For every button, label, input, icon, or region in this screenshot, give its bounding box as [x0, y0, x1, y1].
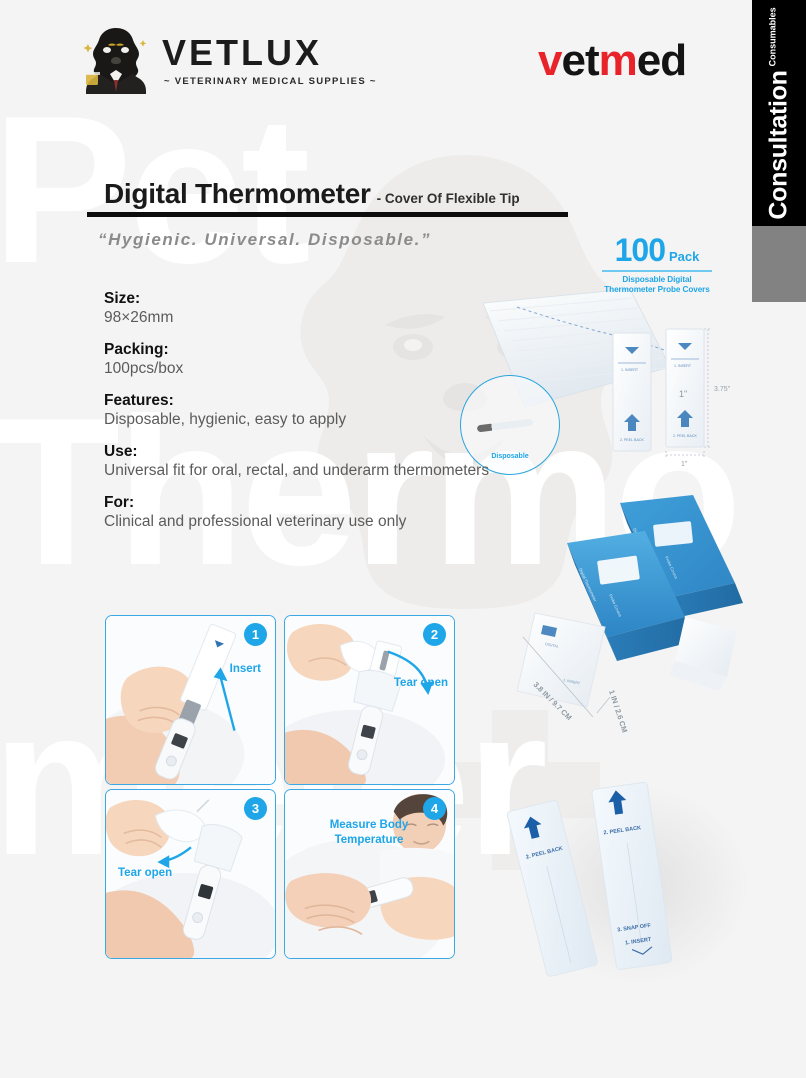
sleeve-dim-height: 3.75" [714, 386, 731, 393]
vetmed-et: et [561, 36, 598, 85]
usage-step-4: 4 Measure Body Temperature [284, 789, 455, 959]
spec-item-packing: Packing: 100pcs/box [104, 341, 584, 378]
svg-text:2. PEEL BACK: 2. PEEL BACK [620, 438, 644, 442]
pack-badge-number: 100 [615, 232, 665, 269]
sleeve-dim-width: 1" [681, 461, 688, 468]
spec-value: 100pcs/box [104, 360, 584, 378]
usage-step-2: 2 Tear open [284, 615, 455, 785]
spec-label: Size: [104, 290, 584, 308]
step-number-badge: 3 [244, 797, 267, 820]
step-number-badge: 1 [244, 623, 267, 646]
vetlux-logo: VETLUX ~ VETERINARY MEDICAL SUPPLIES ~ [80, 24, 370, 94]
svg-text:1. INSERT: 1. INSERT [621, 368, 639, 372]
svg-text:1. INSERT: 1. INSERT [674, 364, 692, 368]
step-caption: Tear open [118, 866, 172, 881]
step-caption: Measure Body Temperature [309, 818, 429, 848]
usage-step-1: 1 Insert [105, 615, 276, 785]
pack-badge-unit: Pack [669, 249, 699, 264]
sidebar-sub-label: Consumables [768, 7, 778, 66]
spec-item-use: Use: Universal fit for oral, rectal, and… [104, 443, 584, 480]
sleeve-dim-inner: 1" [679, 389, 687, 399]
spec-item-features: Features: Disposable, hygienic, easy to … [104, 392, 584, 429]
pack-badge-divider [602, 270, 712, 272]
step-caption: Insert [230, 662, 261, 677]
spec-value: 98×26mm [104, 309, 584, 327]
step-caption: Tear open [394, 676, 448, 691]
spec-label: For: [104, 494, 584, 512]
spec-label: Features: [104, 392, 584, 410]
spec-list: Size: 98×26mm Packing: 100pcs/box Featur… [104, 290, 584, 545]
sidebar-main-label: Consultation [765, 70, 794, 219]
sidebar-gray-block [752, 226, 806, 302]
spec-value: Clinical and professional veterinary use… [104, 513, 584, 531]
spec-label: Packing: [104, 341, 584, 359]
page-title: Digital Thermometer - Cover Of Flexible … [104, 178, 520, 210]
page-title-main: Digital Thermometer [104, 178, 371, 210]
vetmed-v: v [538, 36, 561, 85]
page-tagline: “Hygienic. Universal. Disposable.” [98, 230, 431, 250]
pack-badge: 100 Pack Disposable Digital Thermometer … [600, 232, 714, 295]
title-divider [87, 212, 568, 217]
page-title-sub: - Cover Of Flexible Tip [377, 191, 520, 206]
step-number-badge: 2 [423, 623, 446, 646]
vetmed-ed: ed [637, 36, 686, 85]
pack-badge-desc-1: Disposable Digital [600, 275, 714, 285]
box-dim-width: 1 IN / 2.6 CM [607, 689, 629, 734]
spec-value: Disposable, hygienic, easy to apply [104, 411, 584, 429]
spec-item-size: Size: 98×26mm [104, 290, 584, 327]
vetmed-logo: vetmed [538, 36, 686, 86]
spec-value: Universal fit for oral, rectal, and unde… [104, 462, 584, 480]
product-datasheet-page: Pet Thermo meter [0, 0, 806, 1078]
vetlux-wordmark: VETLUX [162, 32, 322, 74]
spec-item-for: For: Clinical and professional veterinar… [104, 494, 584, 531]
sidebar-category-tab: Consultation Consumables [752, 0, 806, 226]
sachet-pair-photo: 2. PEEL BACK 2. PEEL BACK 3. SNAP OFF 1.… [500, 765, 760, 1000]
step-number-badge: 4 [423, 797, 446, 820]
vetlux-tagline: ~ VETERINARY MEDICAL SUPPLIES ~ [164, 76, 377, 87]
vetmed-m: m [599, 36, 637, 85]
lion-in-suit-icon [80, 24, 152, 94]
pack-badge-desc-2: Thermometer Probe Covers [600, 285, 714, 295]
spec-label: Use: [104, 443, 584, 461]
usage-step-3: 3 Tear open [105, 789, 276, 959]
svg-text:2. PEEL BACK: 2. PEEL BACK [673, 434, 697, 438]
